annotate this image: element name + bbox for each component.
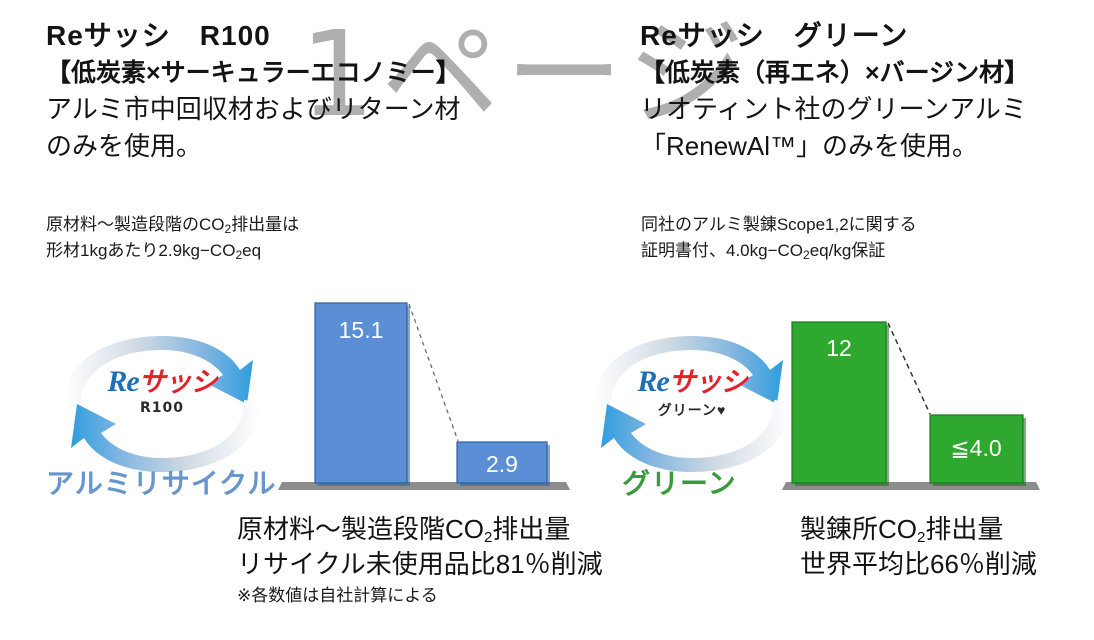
- bar-2-value-right: ≦4.0: [950, 435, 1001, 461]
- right-caption-line-1: 製錬所CO2排出量: [800, 512, 1037, 547]
- chart-connector-right: [888, 323, 930, 414]
- left-title: Reサッシ R100: [46, 16, 566, 56]
- chart-connector-left: [409, 304, 458, 441]
- left-note-line-1-pre: 原材料〜製造段階のCO: [46, 215, 225, 234]
- left-caption-line-1-post: 排出量: [492, 514, 570, 544]
- left-caption-line-1-pre: 原材料〜製造段階CO: [237, 514, 484, 544]
- right-caption-line-1-pre: 製錬所CO: [800, 514, 917, 544]
- left-column-text: Reサッシ R100 【低炭素×サーキュラーエコノミー】 アルミ市中回収材および…: [46, 16, 566, 165]
- left-caption-line-1-sub: 2: [484, 529, 492, 546]
- slide-canvas: 1ページ Reサッシ R100 【低炭素×サーキュラーエコノミー】 アルミ市中回…: [0, 0, 1094, 640]
- left-note-line-2-sub: 2: [235, 248, 242, 262]
- right-caption-line-1-sub: 2: [917, 529, 925, 546]
- left-note-line-1: 原材料〜製造段階のCO2排出量は: [46, 212, 299, 238]
- recycle-arrows-icon-right: [572, 330, 812, 480]
- right-note-line-2: 証明書付、4.0kg−CO2eq/kg保証: [641, 238, 917, 264]
- right-body-line-2: 「RenewAl™」のみを使用。: [640, 128, 1070, 165]
- left-note-line-2: 形材1kgあたり2.9kg−CO2eq: [46, 238, 299, 264]
- bar-1-value-left: 15.1: [339, 317, 384, 343]
- right-column-text: Reサッシ グリーン 【低炭素（再エネ）×バージン材】 リオティント社のグリーン…: [640, 16, 1070, 165]
- left-note-line-1-sub: 2: [225, 222, 232, 236]
- right-title: Reサッシ グリーン: [640, 16, 1070, 56]
- right-note: 同社のアルミ製錬Scope1,2に関する 証明書付、4.0kg−CO2eq/kg…: [641, 212, 917, 263]
- left-note: 原材料〜製造段階のCO2排出量は 形材1kgあたり2.9kg−CO2eq: [46, 212, 299, 263]
- right-caption-line-2: 世界平均比66％削減: [800, 547, 1037, 582]
- right-subtitle: 【低炭素（再エネ）×バージン材】: [640, 56, 1070, 92]
- aluminium-recycle-chart: 15.1 2.9: [270, 290, 580, 500]
- left-note-line-1-post: 排出量は: [231, 215, 299, 234]
- recycle-arrows-icon-left: [42, 330, 282, 480]
- right-note-line-2-pre: 証明書付、4.0kg−CO: [641, 241, 803, 260]
- left-body-line-1: アルミ市中回収材およびリターン材: [46, 91, 566, 128]
- right-caption-line-1-post: 排出量: [925, 514, 1003, 544]
- left-caption-note: ※各数値は自社計算による: [237, 584, 603, 608]
- bar-2-value-left: 2.9: [486, 451, 518, 477]
- right-body-line-1: リオティント社のグリーンアルミ: [640, 91, 1070, 128]
- category-label-aluminium-recycle: アルミリサイクル: [46, 462, 276, 502]
- green-aluminium-chart: 12 ≦4.0: [778, 290, 1058, 500]
- left-note-line-2-pre: 形材1kgあたり2.9kg−CO: [46, 241, 235, 260]
- left-caption-line-2: リサイクル未使用品比81％削減: [237, 547, 603, 582]
- category-label-green: グリーン: [622, 462, 737, 502]
- right-note-line-2-post: eq/kg保証: [810, 241, 886, 260]
- right-caption: 製錬所CO2排出量 世界平均比66％削減: [800, 512, 1037, 582]
- left-note-line-2-post: eq: [242, 241, 261, 260]
- right-note-line-1: 同社のアルミ製錬Scope1,2に関する: [641, 212, 917, 238]
- left-caption-line-1: 原材料〜製造段階CO2排出量: [237, 512, 603, 547]
- left-body-line-2: のみを使用。: [46, 128, 566, 165]
- left-caption: 原材料〜製造段階CO2排出量 リサイクル未使用品比81％削減 ※各数値は自社計算…: [237, 512, 603, 608]
- right-note-line-2-sub: 2: [803, 248, 810, 262]
- bar-1-value-right: 12: [826, 335, 852, 361]
- left-subtitle: 【低炭素×サーキュラーエコノミー】: [46, 56, 566, 92]
